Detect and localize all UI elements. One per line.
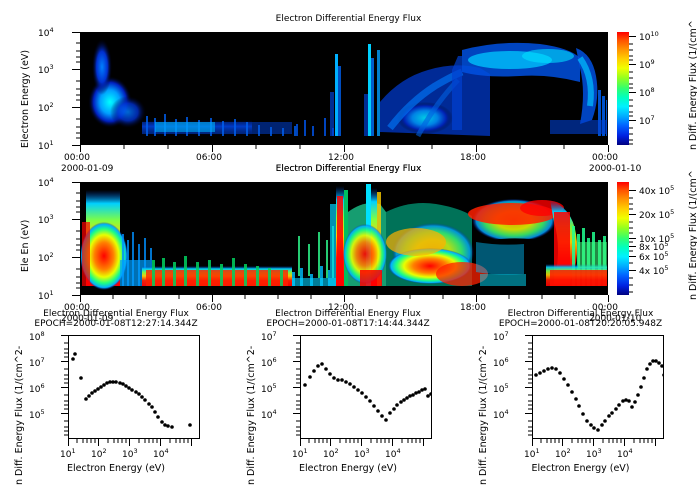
panel1-colorbar-ticks bbox=[629, 32, 637, 146]
spectrum-0-xtick-0: 101 bbox=[60, 447, 76, 460]
spectrum-0-xtick-2: 103 bbox=[122, 447, 138, 460]
panel1-colorbar[interactable] bbox=[617, 32, 629, 145]
spectrum-2-title: Electron Differential Energy Flux bbox=[464, 309, 697, 319]
spectrum-2-ytick-2: 105 bbox=[493, 382, 509, 395]
spectrum-0-xaxis-ticks bbox=[68, 439, 201, 447]
spectrum-1-xtick-2: 103 bbox=[354, 447, 370, 460]
panel1-cbtick-3: 107 bbox=[639, 114, 655, 127]
spectrum-1-yaxis-ticks bbox=[293, 335, 301, 440]
panel1-yaxis-ticks bbox=[72, 32, 81, 146]
spectrum-0-ytick-0: 108 bbox=[29, 330, 45, 343]
panel1-xaxis-ticks bbox=[80, 145, 609, 153]
panel1-xtick-0: 00:00 bbox=[64, 153, 90, 163]
spectrum-1-epoch: EPOCH=2000-01-08T17:14:44.344Z bbox=[232, 319, 464, 329]
spectrum-panel-1[interactable]: Electron Differential Energy Flux EPOCH=… bbox=[232, 305, 464, 492]
panel1-colorbar-label: n Diff. Energy Flux (1/(cm^ bbox=[688, 20, 697, 150]
spectrum-0-ytick-3: 105 bbox=[29, 408, 45, 421]
spectrum-2-yaxis-ticks bbox=[525, 335, 533, 440]
panel2-ylabel-group: Ele En (eV) bbox=[20, 272, 72, 283]
panel1-ytick-3: 101 bbox=[38, 139, 54, 152]
panel1-xtick-3: 18:00 bbox=[460, 153, 486, 163]
panel2-colorbar-label: n Diff. Energy Flux (1/(cm^ bbox=[688, 170, 697, 300]
spectrum-panel-2[interactable]: Electron Differential Energy Flux EPOCH=… bbox=[464, 305, 697, 492]
panel2-xaxis-ticks bbox=[80, 295, 609, 303]
spectrum-2-epoch: EPOCH=2000-01-08T20:20:05.948Z bbox=[464, 319, 697, 329]
panel1-colorbar-label-group: n Diff. Energy Flux (1/(cm^ bbox=[688, 150, 697, 161]
spectrum-0-xtick-3: 104 bbox=[153, 447, 169, 460]
spectrum-2-xtick-0: 101 bbox=[524, 447, 540, 460]
panel1-cbtick-0: 1010 bbox=[639, 30, 659, 43]
spectrum-1-xtick-0: 101 bbox=[292, 447, 308, 460]
panel1-xtick-4: 00:00 bbox=[592, 153, 618, 163]
panel1-cbtick-2: 108 bbox=[639, 86, 655, 99]
panel1-ytick-0: 104 bbox=[38, 26, 54, 39]
spectrum-0-points bbox=[68, 335, 200, 439]
panel2-colorbar-ticks bbox=[629, 182, 637, 296]
spectrum-1-title: Electron Differential Energy Flux bbox=[232, 309, 464, 319]
spectrum-0-xtick-1: 102 bbox=[91, 447, 107, 460]
spectrum-2-xtick-2: 103 bbox=[586, 447, 602, 460]
panel1-ytick-2: 102 bbox=[38, 101, 54, 114]
spectrum-2-xtick-3: 104 bbox=[617, 447, 633, 460]
spectrum-0-ylabel-group: n Diff. Energy Flux (1/(cm^2- bbox=[14, 485, 153, 496]
spectrum-1-ylabel-group: n Diff. Energy Flux (1/(cm^2- bbox=[246, 485, 385, 496]
spectrum-1-ytick-3: 104 bbox=[261, 408, 277, 421]
panel1-xtick-2: 12:00 bbox=[328, 153, 354, 163]
spectrum-1-xtick-1: 102 bbox=[323, 447, 339, 460]
spectrum-2-ytick-3: 104 bbox=[493, 408, 509, 421]
spectrum-2-xlabel: Electron Energy (eV) bbox=[464, 463, 697, 474]
spectrum-0-ytick-1: 107 bbox=[29, 356, 45, 369]
spectrum-0-xlabel: Electron Energy (eV) bbox=[0, 463, 232, 474]
panel1-cbtick-1: 109 bbox=[639, 58, 655, 71]
spectrum-1-xtick-3: 104 bbox=[385, 447, 401, 460]
spectrum-panel-0[interactable]: Electron Differential Energy Flux EPOCH=… bbox=[0, 305, 232, 492]
spectrum-1-ytick-1: 106 bbox=[261, 356, 277, 369]
spectrum-0-yaxis-ticks bbox=[61, 335, 69, 440]
panel2-title: Electron Differential Energy Flux bbox=[0, 164, 697, 174]
panel2-cbtick-1: 20x 105 bbox=[639, 208, 674, 221]
panel2-ytick-0: 104 bbox=[38, 176, 54, 189]
spectrum-2-xtick-1: 102 bbox=[555, 447, 571, 460]
spectrum-0-ytick-2: 106 bbox=[29, 382, 45, 395]
panel2-ytick-2: 102 bbox=[38, 251, 54, 264]
spectrum-1-xaxis-ticks bbox=[300, 439, 433, 447]
spectrum-0-title: Electron Differential Energy Flux bbox=[0, 309, 232, 319]
panel2-yaxis-ticks bbox=[72, 182, 81, 296]
panel2-frame bbox=[80, 182, 608, 295]
spectrum-1-points bbox=[300, 335, 432, 439]
panel2-ytick-1: 103 bbox=[38, 213, 54, 226]
panel2-ytick-3: 101 bbox=[38, 289, 54, 302]
spectrum-0-epoch: EPOCH=2000-01-08T12:27:14.344Z bbox=[0, 319, 232, 329]
panel2-ylabel: Ele En (eV) bbox=[20, 220, 31, 272]
spectrum-2-ytick-1: 106 bbox=[493, 356, 509, 369]
panel1-xtick-1: 06:00 bbox=[196, 153, 222, 163]
spectrum-2-xaxis-ticks bbox=[532, 439, 665, 447]
panel1-ytick-1: 103 bbox=[38, 63, 54, 76]
spectrum-2-points bbox=[532, 335, 664, 439]
spectrum-1-xlabel: Electron Energy (eV) bbox=[232, 463, 464, 474]
panel2-cbtick-0: 40x 105 bbox=[639, 184, 674, 197]
panel2-colorbar[interactable] bbox=[617, 182, 629, 295]
panel1-frame bbox=[80, 32, 608, 145]
panel1-title: Electron Differential Energy Flux bbox=[0, 14, 697, 24]
spectrum-2-ylabel-group: n Diff. Energy Flux (1/(cm^2- bbox=[478, 485, 617, 496]
panel1-ylabel: Electron Energy (eV) bbox=[20, 50, 31, 148]
panel2-cbtick-4: 6x 105 bbox=[639, 250, 669, 263]
spectrum-1-ytick-2: 105 bbox=[261, 382, 277, 395]
spectrum-1-ytick-0: 107 bbox=[261, 330, 277, 343]
panel2-cbtick-5: 4x 105 bbox=[639, 264, 669, 277]
spectrum-2-ytick-0: 107 bbox=[493, 330, 509, 343]
